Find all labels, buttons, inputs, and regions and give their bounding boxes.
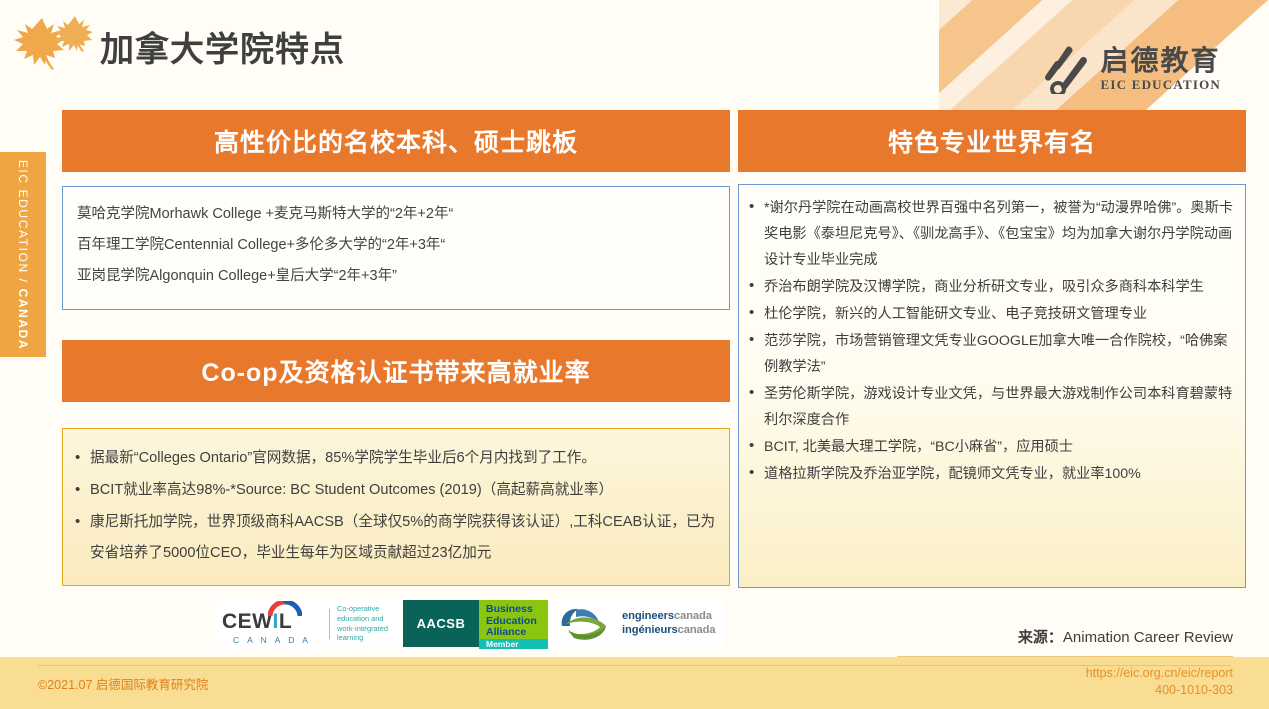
cewil-tagline-line-2: education and: [337, 614, 388, 624]
aacsb-alliance-line-1: Business: [486, 604, 548, 616]
source-attribution: 来源：Animation Career Review: [1018, 626, 1233, 647]
footer-divider: [38, 665, 1231, 666]
right-panel-body: *谢尔丹学院在动画高校世界百强中名列第一，被誉为“动漫界哈佛”。奥斯卡奖电影《泰…: [738, 184, 1246, 588]
cewil-canada-logo: CEWIL C A N A D A Co-operative education…: [216, 600, 401, 647]
left-panel2-body: 据最新“Colleges Ontario”官网数据，85%学院学生毕业后6个月内…: [62, 428, 730, 586]
engineers-en-light: canada: [674, 610, 712, 622]
cewil-word-head: CEW: [222, 610, 273, 633]
cewil-tagline: Co-operative education and work-integrat…: [337, 604, 388, 642]
aacsb-acronym: AACSB: [403, 600, 479, 647]
list-item: 据最新“Colleges Ontario”官网数据，85%学院学生毕业后6个月内…: [73, 443, 717, 474]
left-panel1-line-2: 百年理工学院Centennial College+多伦多大学的“2年+3年“: [77, 230, 715, 261]
list-item: 道格拉斯学院及乔治亚学院，配镜师文凭专业，就业率100%: [747, 461, 1237, 487]
footer-url-link[interactable]: https://eic.org.cn/eic/report: [1086, 665, 1233, 682]
sidebar-tab-canada: EIC EDUCATION / CANADA: [0, 152, 46, 357]
aacsb-member-badge: Member: [479, 639, 548, 649]
engineers-canada-logo: engineerscanada ingénieurscanada: [550, 600, 725, 647]
list-item: BCIT, 北美最大理工学院，“BC小麻省”，应用硕士: [747, 434, 1237, 460]
list-item: 乔治布朗学院及汉博学院，商业分析研文专业，吸引众多商科本科学生: [747, 274, 1237, 300]
left-panel1-heading: 高性价比的名校本科、硕士跳板: [62, 110, 730, 172]
brand-logo: 启德教育 EIC EDUCATION: [1041, 44, 1221, 94]
cewil-tagline-line-1: Co-operative: [337, 604, 388, 614]
list-item: *谢尔丹学院在动画高校世界百强中名列第一，被誉为“动漫界哈佛”。奥斯卡奖电影《泰…: [747, 195, 1237, 273]
list-item: 杜伦学院，新兴的人工智能研文专业、电子竞技研文管理专业: [747, 301, 1237, 327]
source-label: 来源：: [1018, 629, 1063, 646]
left-panel1-body: 莫哈克学院Morhawk College +麦克马斯特大学的“2年+2年“ 百年…: [62, 186, 730, 310]
engineers-fr-light: canada: [678, 624, 716, 636]
engineers-canada-swoosh-icon: [556, 604, 618, 644]
maple-leaf-icon: [12, 12, 94, 74]
list-item: 康尼斯托加学院，世界顶级商科AACSB（全球仅5%的商学院获得该认证）,工科CE…: [73, 507, 717, 569]
cewil-region-label: C A N A D A: [222, 635, 322, 645]
cewil-arc-icon: [268, 601, 302, 616]
side-tab-prefix: EIC EDUCATION /: [16, 159, 30, 288]
left-panel1-line-3: 亚岗昆学院Algonquin College+皇后大学“2年+3年”: [77, 261, 715, 292]
list-item: 范莎学院，市场营销管理文凭专业GOOGLE加拿大唯一合作院校，“哈佛案例教学法”: [747, 328, 1237, 380]
engineers-en-bold: engineers: [622, 610, 674, 622]
engineers-canada-en: engineerscanada: [622, 610, 716, 624]
left-panel2-heading: Co-op及资格认证书带来高就业率: [62, 340, 730, 402]
aacsb-alliance-text: Business Education Alliance: [479, 600, 548, 639]
aacsb-logo: AACSB Business Education Alliance Member: [403, 600, 548, 647]
source-value: Animation Career Review: [1063, 629, 1233, 646]
footer-contact: https://eic.org.cn/eic/report 400-1010-3…: [1086, 665, 1233, 699]
list-item: 圣劳伦斯学院，游戏设计专业文凭，与世界最大游戏制作公司本科育碧蒙特利尔深度合作: [747, 381, 1237, 433]
cewil-divider: [329, 609, 330, 639]
list-item: BCIT就业率高达98%-*Source: BC Student Outcome…: [73, 475, 717, 506]
engineers-fr-bold: ingénieurs: [622, 624, 678, 636]
eic-logo-mark-icon: [1041, 44, 1093, 94]
brand-name-en: EIC EDUCATION: [1101, 78, 1221, 91]
cewil-tagline-line-4: learning: [337, 633, 388, 643]
aacsb-alliance-line-3: Alliance: [486, 627, 548, 639]
footer-copyright: ©2021.07 启德国际教育研究院: [38, 674, 208, 693]
slide-canvas: 加拿大学院特点 启德教育 EIC EDUCATION EIC EDUCATION…: [0, 0, 1269, 709]
brand-name-cn: 启德教育: [1101, 47, 1221, 75]
engineers-canada-fr: ingénieurscanada: [622, 624, 716, 638]
side-tab-emphasis: CANADA: [16, 288, 30, 350]
page-title: 加拿大学院特点: [100, 22, 345, 71]
cewil-tagline-line-3: work-integrated: [337, 624, 388, 634]
left-panel1-line-1: 莫哈克学院Morhawk College +麦克马斯特大学的“2年+2年“: [77, 199, 715, 230]
left-panel2-bullet-list: 据最新“Colleges Ontario”官网数据，85%学院学生毕业后6个月内…: [73, 443, 717, 569]
right-panel-heading: 特色专业世界有名: [738, 110, 1246, 172]
right-panel-bullet-list: *谢尔丹学院在动画高校世界百强中名列第一，被誉为“动漫界哈佛”。奥斯卡奖电影《泰…: [747, 195, 1237, 487]
footer-bar: ©2021.07 启德国际教育研究院 https://eic.org.cn/ei…: [0, 657, 1269, 709]
accreditation-logo-strip: CEWIL C A N A D A Co-operative education…: [216, 600, 725, 647]
engineers-canada-wordmark: engineerscanada ingénieurscanada: [622, 610, 716, 637]
footer-phone: 400-1010-303: [1086, 682, 1233, 699]
